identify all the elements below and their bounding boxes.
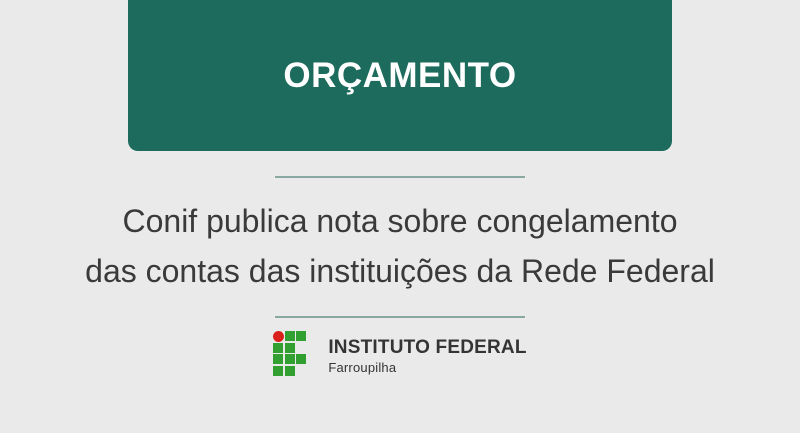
- institution-campus: Farroupilha: [328, 361, 526, 374]
- headline-line-2: das contas das instituições da Rede Fede…: [0, 246, 800, 296]
- logo-square: [296, 331, 306, 341]
- headline: Conif publica nota sobre congelamento da…: [0, 196, 800, 296]
- headline-line-1: Conif publica nota sobre congelamento: [0, 196, 800, 246]
- institution-logo: INSTITUTO FEDERAL Farroupilha: [0, 331, 800, 381]
- logo-square: [285, 366, 295, 376]
- divider-top: [275, 176, 525, 178]
- logo-dot: [273, 331, 284, 342]
- category-banner: ORÇAMENTO: [128, 0, 672, 151]
- news-card: ORÇAMENTO Conif publica nota sobre conge…: [0, 0, 800, 433]
- logo-square: [285, 343, 295, 353]
- instituto-federal-logo-mark: [273, 331, 317, 381]
- logo-square: [273, 366, 283, 376]
- institution-name: INSTITUTO FEDERAL: [328, 338, 526, 357]
- divider-bottom: [275, 316, 525, 318]
- institution-logo-text: INSTITUTO FEDERAL Farroupilha: [328, 338, 526, 374]
- logo-square: [285, 354, 295, 364]
- logo-square: [285, 331, 295, 341]
- logo-square: [273, 343, 283, 353]
- logo-square: [273, 354, 283, 364]
- logo-square: [296, 354, 306, 364]
- category-banner-title: ORÇAMENTO: [283, 58, 516, 93]
